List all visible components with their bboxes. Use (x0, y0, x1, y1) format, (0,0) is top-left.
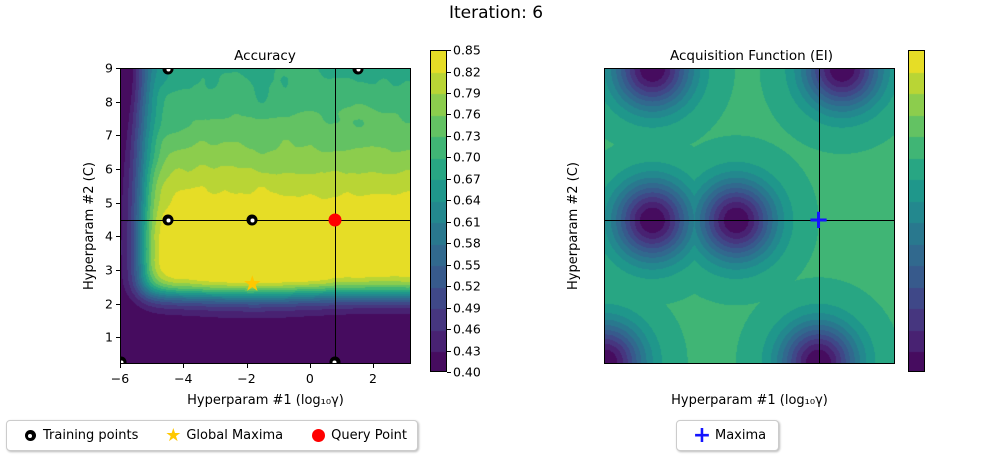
accuracy-colorbar-tickmark (447, 308, 451, 309)
accuracy-y-tickmark (116, 337, 120, 338)
accuracy-ylabel: Hyperparam #2 (C) (82, 162, 97, 290)
acquisition-legend[interactable]: + Maxima (676, 420, 779, 451)
acquisition-xlabel: Hyperparam #1 (log₁₀γ) (604, 393, 895, 408)
accuracy-x-tickmark (373, 364, 374, 368)
accuracy-x-tickmark (247, 364, 248, 368)
query-point-icon (305, 427, 331, 445)
accuracy-colorbar-ticklabel: 0.58 (453, 236, 481, 251)
accuracy-colorbar-tickmark (447, 329, 451, 330)
accuracy-x-ticklabel: 2 (369, 371, 377, 386)
acquisition-crosshair-horizontal (605, 220, 894, 221)
accuracy-colorbar-ticklabel: 0.49 (453, 300, 481, 315)
accuracy-colorbar-tickmark (447, 200, 451, 201)
accuracy-colorbar-ticklabel: 0.64 (453, 193, 481, 208)
acquisition-ylabel: Hyperparam #2 (C) (566, 162, 581, 290)
acquisition-colorbar (908, 50, 925, 372)
accuracy-colorbar-tickmark (447, 50, 451, 51)
accuracy-plot-area[interactable]: ★ (120, 68, 411, 364)
maxima-marker[interactable]: + (808, 207, 830, 233)
accuracy-colorbar-ticklabel: 0.55 (453, 257, 481, 272)
accuracy-colorbar-tickmark (447, 265, 451, 266)
accuracy-y-tickmark (116, 102, 120, 103)
accuracy-y-ticklabel: 2 (90, 296, 113, 311)
accuracy-colorbar-tickmark (447, 72, 451, 73)
accuracy-x-ticklabel: −2 (237, 371, 255, 386)
training-point-marker[interactable] (163, 215, 174, 226)
training-point-marker[interactable] (120, 357, 127, 364)
panel-acquisition: Acquisition Function (EI) + −6−4−202 123… (496, 0, 992, 457)
accuracy-markers-layer: ★ (121, 69, 410, 363)
accuracy-colorbar-tickmark (447, 372, 451, 373)
legend-entry-training-points: Training points (17, 427, 138, 445)
accuracy-x-ticklabel: −4 (174, 371, 192, 386)
plus-icon: + (689, 427, 715, 445)
accuracy-x-ticklabel: 0 (306, 371, 314, 386)
accuracy-y-tickmark (116, 236, 120, 237)
accuracy-colorbar-ticklabel: 0.82 (453, 64, 481, 79)
accuracy-x-tickmark (120, 364, 121, 368)
accuracy-colorbar-ticklabel: 0.76 (453, 107, 481, 122)
legend-label-maxima: Maxima (715, 428, 766, 443)
accuracy-x-ticklabel: −6 (111, 371, 129, 386)
acquisition-plot-area[interactable]: + (604, 68, 895, 364)
training-point-marker[interactable] (163, 68, 174, 75)
accuracy-y-ticklabel: 8 (90, 94, 113, 109)
star-icon: ★ (160, 427, 186, 445)
accuracy-colorbar-tickmark (447, 136, 451, 137)
accuracy-colorbar-ticklabel: 0.52 (453, 279, 481, 294)
accuracy-colorbar-ticklabel: 0.70 (453, 150, 481, 165)
accuracy-y-tickmark (116, 270, 120, 271)
panel-accuracy: Accuracy ★ −6−4−202 123456789 Hyperparam… (0, 0, 496, 457)
legend-label-training-points: Training points (43, 428, 138, 443)
training-point-marker[interactable] (247, 215, 258, 226)
legend-entry-maxima: + Maxima (689, 427, 766, 445)
legend-label-query-point: Query Point (331, 428, 407, 443)
training-point-icon (17, 427, 43, 445)
acquisition-markers-layer: + (605, 69, 894, 363)
accuracy-y-ticklabel: 1 (90, 330, 113, 345)
legend-entry-query-point: Query Point (305, 427, 407, 445)
accuracy-colorbar-ticklabel: 0.67 (453, 171, 481, 186)
accuracy-y-tickmark (116, 203, 120, 204)
global-maxima-marker[interactable]: ★ (243, 273, 262, 294)
accuracy-xlabel: Hyperparam #1 (log₁₀γ) (120, 393, 411, 408)
accuracy-colorbar-ticklabel: 0.61 (453, 214, 481, 229)
accuracy-colorbar-tickmark (447, 93, 451, 94)
accuracy-y-ticklabel: 7 (90, 128, 113, 143)
training-point-marker[interactable] (353, 68, 364, 75)
accuracy-y-tickmark (116, 304, 120, 305)
accuracy-x-tickmark (183, 364, 184, 368)
accuracy-colorbar-ticklabel: 0.40 (453, 365, 481, 380)
accuracy-x-tickmark (310, 364, 311, 368)
accuracy-colorbar-tickmark (447, 351, 451, 352)
figure-canvas: Iteration: 6 Accuracy ★ −6−4−202 1234567… (0, 0, 992, 457)
accuracy-colorbar-tickmark (447, 179, 451, 180)
accuracy-y-tickmark (116, 68, 120, 69)
legend-label-global-maxima: Global Maxima (186, 428, 283, 443)
accuracy-colorbar-tickmark (447, 243, 451, 244)
acquisition-title: Acquisition Function (EI) (604, 48, 899, 64)
accuracy-y-tickmark (116, 169, 120, 170)
accuracy-legend[interactable]: Training points ★ Global Maxima Query Po… (6, 420, 418, 451)
accuracy-colorbar-ticklabel: 0.73 (453, 128, 481, 143)
accuracy-colorbar-tickmark (447, 157, 451, 158)
accuracy-colorbar-ticklabel: 0.85 (453, 43, 481, 58)
accuracy-y-tickmark (116, 135, 120, 136)
accuracy-colorbar-ticklabel: 0.46 (453, 322, 481, 337)
accuracy-colorbar-ticklabel: 0.79 (453, 85, 481, 100)
accuracy-colorbar-tickmark (447, 114, 451, 115)
training-point-marker[interactable] (329, 357, 340, 364)
accuracy-y-ticklabel: 9 (90, 61, 113, 76)
query-point-marker[interactable] (328, 214, 341, 227)
accuracy-title: Accuracy (120, 48, 410, 64)
legend-entry-global-maxima: ★ Global Maxima (160, 427, 283, 445)
accuracy-colorbar-tickmark (447, 286, 451, 287)
accuracy-colorbar (430, 50, 447, 372)
accuracy-colorbar-ticklabel: 0.43 (453, 343, 481, 358)
accuracy-colorbar-tickmark (447, 222, 451, 223)
